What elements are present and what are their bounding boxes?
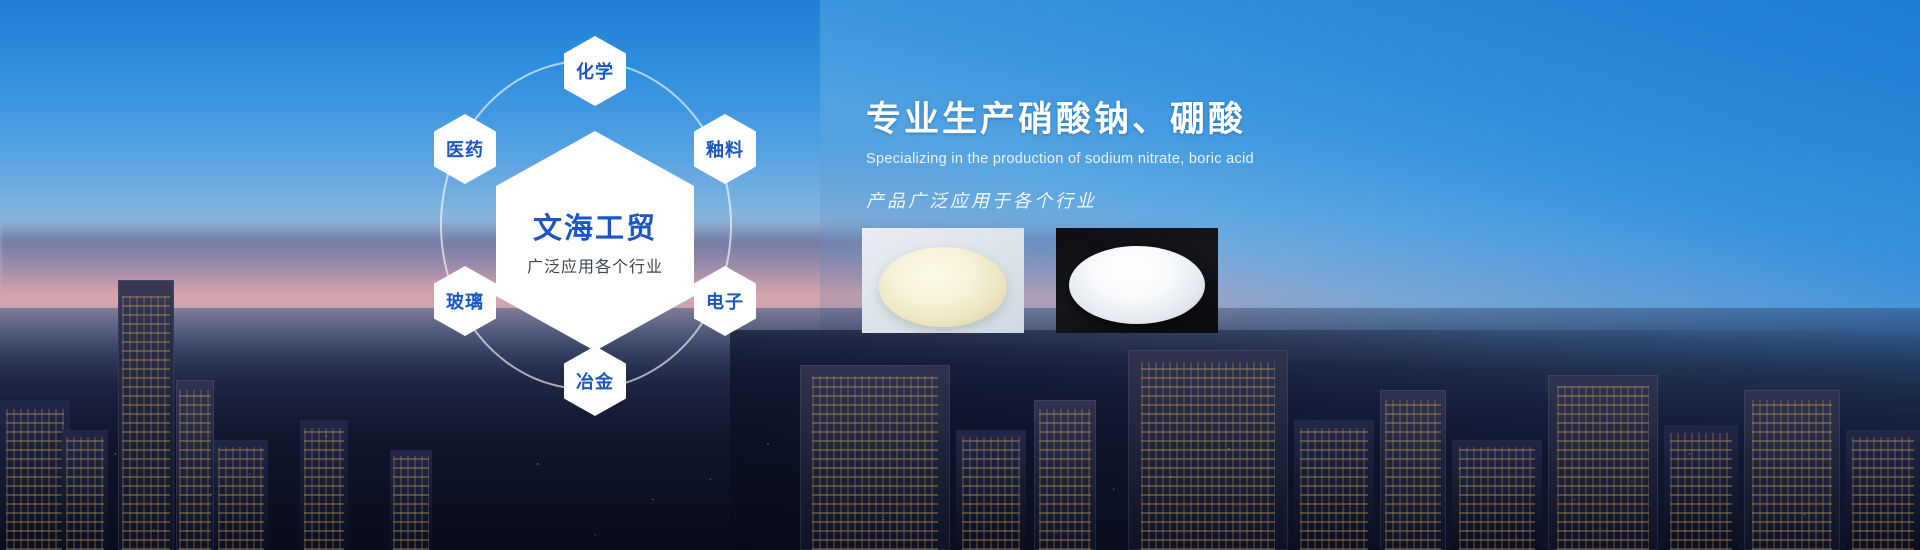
marketing-copy: 专业生产硝酸钠、硼酸 Specializing in the productio… bbox=[866, 98, 1566, 213]
product-photo-boric-acid[interactable] bbox=[1056, 228, 1218, 333]
city-lights bbox=[0, 297, 1920, 550]
industry-hex-diagram: 化学 釉料 电子 冶金 玻璃 医药 文海工贸 广泛应用各个行业 bbox=[432, 36, 762, 436]
hex-node-label: 冶金 bbox=[576, 368, 614, 394]
powder-pile bbox=[879, 247, 1007, 327]
promo-banner: 化学 釉料 电子 冶金 玻璃 医药 文海工贸 广泛应用各个行业 专业生产硝酸钠、… bbox=[0, 0, 1920, 550]
hex-node-label: 电子 bbox=[706, 288, 744, 314]
hex-node-label: 釉料 bbox=[706, 136, 744, 162]
hex-node-label: 玻璃 bbox=[446, 288, 484, 314]
company-tagline: 广泛应用各个行业 bbox=[527, 253, 663, 277]
powder-pile bbox=[1069, 246, 1205, 324]
company-name: 文海工贸 bbox=[533, 205, 657, 247]
headline: 专业生产硝酸钠、硼酸 bbox=[866, 98, 1566, 142]
hex-node-label: 化学 bbox=[576, 58, 614, 84]
subheadline-english: Specializing in the production of sodium… bbox=[866, 151, 1566, 167]
product-photo-sodium-nitrate[interactable] bbox=[862, 228, 1024, 333]
product-photo-gallery bbox=[862, 228, 1218, 333]
hex-node-label: 医药 bbox=[446, 136, 484, 162]
tagline: 产品广泛应用于各个行业 bbox=[866, 187, 1566, 213]
